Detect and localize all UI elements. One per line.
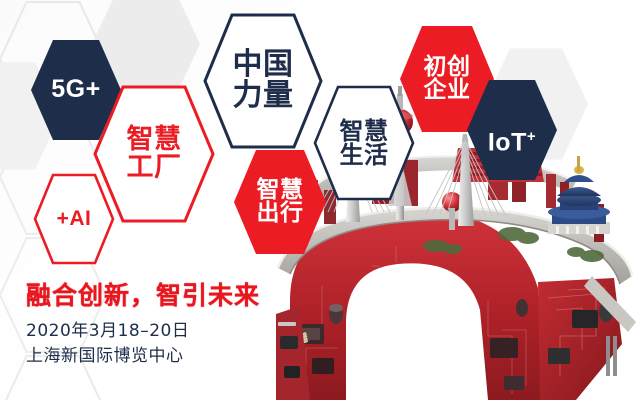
poster-venue: 上海新国际博览中心 [26,341,184,366]
poster-date: 2020年3月18–20日 [26,316,189,341]
pcb-wing-right [538,276,636,400]
badge-label: 智慧 生活 [340,119,389,168]
badge-label: 智慧 出行 [257,179,304,226]
badge-label-text: IoT [488,129,527,157]
badge-label: 5G+ [51,77,100,103]
poster-canvas: 5G+ 智慧 工厂 +AI 中国 力量 智慧 出行 智慧 生活 [0,0,640,400]
badge-plus-ai[interactable]: +AI [32,172,116,266]
badge-china-power[interactable]: 中国 力量 [202,12,324,150]
badge-label: +AI [57,208,92,229]
badge-label: 中国 力量 [233,50,294,111]
badge-superscript: + [527,128,536,145]
badge-label: 初创 企业 [424,56,471,103]
poster-headline: 融合创新，智引未来 [26,276,260,312]
badge-label: IoT+ [488,104,536,156]
badge-iot-plus[interactable]: IoT+ [466,78,558,182]
badge-label: 智慧 工厂 [127,126,182,181]
